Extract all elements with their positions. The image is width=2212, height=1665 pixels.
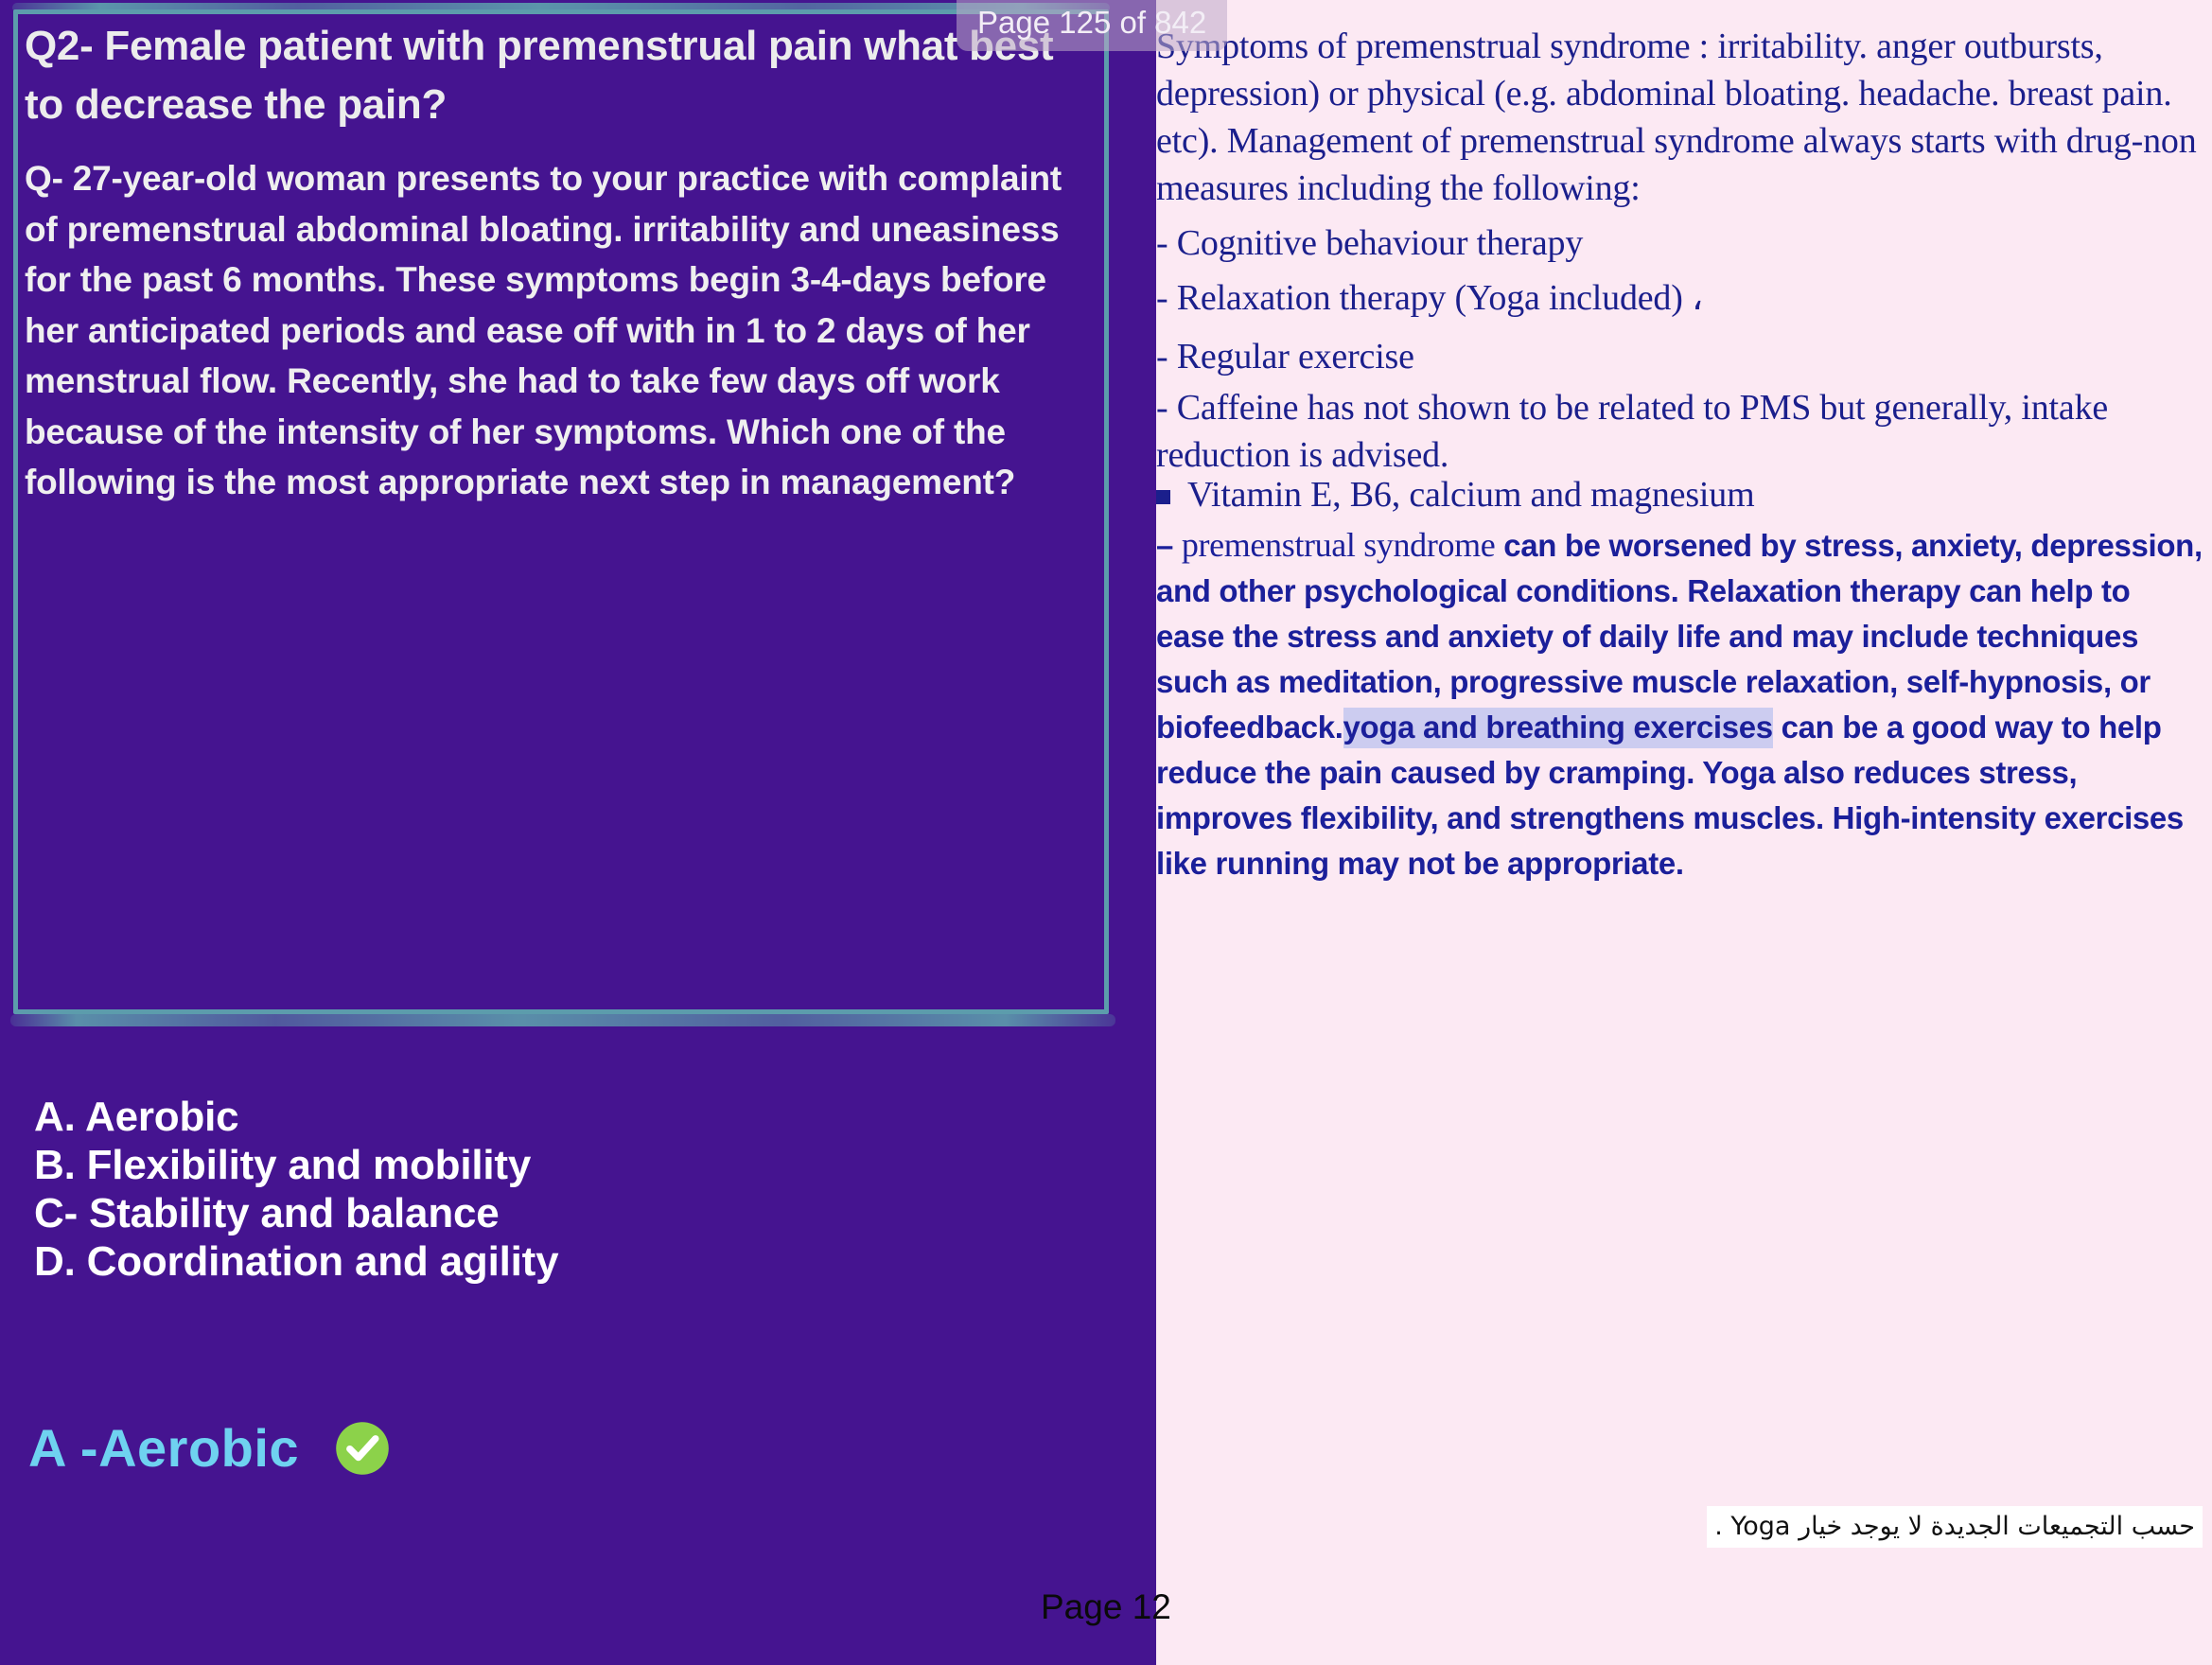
green-check-circle-icon xyxy=(335,1421,390,1476)
correct-answer-row: A -Aerobic xyxy=(28,1419,390,1478)
correct-answer-label: A -Aerobic xyxy=(28,1419,299,1478)
notes-bullet-regular-exercise: - Regular exercise xyxy=(1156,333,2159,380)
notes-bullet-relaxation-therapy: - Relaxation therapy (Yoga included) ، xyxy=(1156,274,2159,322)
notes-highlighted-phrase: yoga and breathing exercises xyxy=(1343,708,1773,748)
notes-bullet-cognitive-behaviour-therapy: - Cognitive behaviour therapy xyxy=(1156,219,2159,267)
question-body: Q- 27-year-old woman presents to your pr… xyxy=(25,153,1094,508)
option-a[interactable]: A. Aerobic xyxy=(34,1093,1075,1141)
notes-panel: Symptoms of premenstrual syndrome : irri… xyxy=(1156,0,2212,1665)
square-bullet-icon xyxy=(1156,490,1170,504)
option-d[interactable]: D. Coordination and agility xyxy=(34,1237,1075,1286)
notes-bullet-caffeine: - Caffeine has not shown to be related t… xyxy=(1156,384,2168,479)
notes-bullet-vitamins: Vitamin E, B6, calcium and magnesium xyxy=(1156,471,2159,518)
page-indicator: Page 125 of 842 xyxy=(957,0,1227,51)
arabic-annotation: حسب التجميعات الجديدة لا يوجد خيار Yoga … xyxy=(1707,1506,2203,1548)
option-c[interactable]: C- Stability and balance xyxy=(34,1189,1075,1237)
notes-bullet-vitamins-label: Vitamin E, B6, calcium and magnesium xyxy=(1187,471,1754,518)
notes-serif-lead: premenstrual syndrome xyxy=(1182,526,1496,564)
question-title: Q2- Female patient with premenstrual pai… xyxy=(25,17,1084,134)
answer-options-list: A. Aerobic B. Flexibility and mobility C… xyxy=(34,1093,1075,1286)
option-b[interactable]: B. Flexibility and mobility xyxy=(34,1141,1075,1189)
em-dash-marker: – xyxy=(1156,528,1173,563)
page-footer-label: Page 12 xyxy=(1041,1586,1171,1628)
slide-panel: Q2- Female patient with premenstrual pai… xyxy=(0,0,1156,1665)
slide-viewer: Q2- Female patient with premenstrual pai… xyxy=(0,0,2212,1665)
notes-bold-paragraph: – premenstrual syndrome can be worsened … xyxy=(1156,522,2203,886)
notes-intro-paragraph: Symptoms of premenstrual syndrome : irri… xyxy=(1156,23,2204,212)
